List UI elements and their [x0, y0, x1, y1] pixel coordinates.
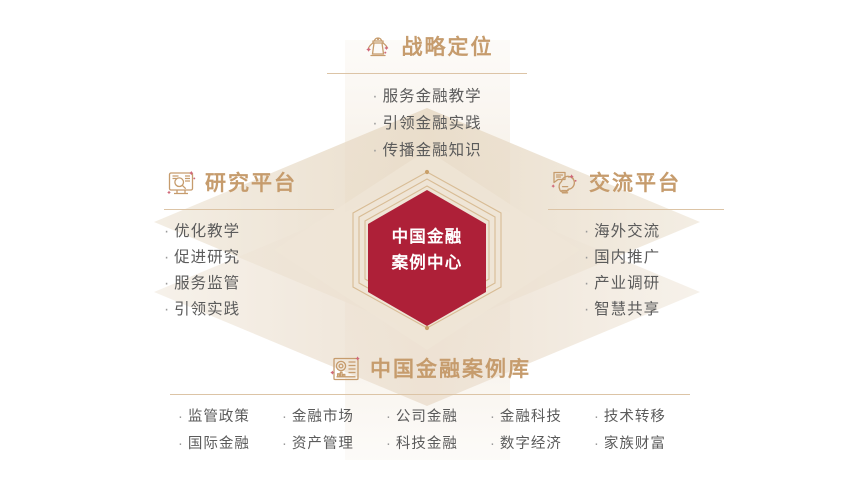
bullet-dot: · — [594, 409, 604, 425]
bullet-dot: · — [178, 436, 188, 452]
list-item-label: 服务监管 — [174, 275, 240, 292]
bullet-dot: · — [584, 301, 594, 318]
bullet-dot: · — [372, 88, 382, 105]
bullet-dot: · — [164, 301, 174, 318]
list-item-label: 促进研究 — [174, 249, 240, 266]
panel-strategy-title: 战略定位 — [402, 37, 494, 58]
list-item-label: 数字经济 — [500, 436, 562, 452]
list-item-label: 科技金融 — [396, 436, 458, 452]
list-item: ·服务监管 — [164, 271, 334, 297]
list-item-label: 金融市场 — [292, 409, 354, 425]
strategy-beacon-icon — [361, 30, 395, 64]
panel-strategy-items: ·服务金融教学 ·引领金融实践 ·传播金融知识 — [327, 83, 527, 164]
list-item-label: 海外交流 — [594, 223, 660, 240]
bullet-dot: · — [594, 436, 604, 452]
panel-exchange-divider — [548, 209, 724, 210]
exchange-speech-bubble-icon — [548, 166, 582, 200]
list-item: ·智慧共享 — [584, 297, 724, 323]
bullet-dot: · — [178, 409, 188, 425]
bullet-dot: · — [490, 409, 500, 425]
list-item-label: 优化教学 — [174, 223, 240, 240]
center-emblem: 中国金融 案例中心 — [337, 168, 517, 332]
list-item-label: 国际金融 — [188, 436, 250, 452]
panel-research-divider — [164, 209, 334, 210]
bullet-dot: · — [386, 436, 396, 452]
list-item-label: 传播金融知识 — [383, 142, 482, 159]
panel-case-library-header: 中国金融案例库 — [170, 352, 690, 386]
list-item-label: 监管政策 — [188, 409, 250, 425]
center-line-2: 案例中心 — [392, 255, 463, 272]
list-item: ·监管政策 — [170, 405, 274, 430]
bullet-dot: · — [282, 436, 292, 452]
bullet-dot: · — [386, 409, 396, 425]
list-item-label: 资产管理 — [292, 436, 354, 452]
list-item: ·金融市场 — [274, 405, 378, 430]
list-item: ·引领实践 — [164, 297, 334, 323]
list-item: ·服务金融教学 — [327, 83, 527, 110]
infographic-canvas: 中国金融 案例中心 — [0, 0, 854, 492]
panel-research: 研究平台 ·优化教学 ·促进研究 ·服务监管 ·引领实践 — [164, 166, 334, 323]
panel-exchange: 交流平台 ·海外交流 ·国内推广 ·产业调研 ·智慧共享 — [548, 166, 724, 323]
panel-research-header: 研究平台 — [164, 166, 334, 200]
list-item: ·海外交流 — [584, 219, 724, 245]
case-library-grid: ·监管政策 ·金融市场 ·公司金融 ·金融科技 ·技术转移 ·国际金融 ·资产管… — [170, 405, 690, 457]
list-item: ·资产管理 — [274, 432, 378, 457]
case-library-board-icon — [329, 352, 363, 386]
list-item-label: 金融科技 — [500, 409, 562, 425]
list-item-label: 技术转移 — [604, 409, 666, 425]
panel-case-library-divider — [170, 394, 690, 395]
center-line-1: 中国金融 — [392, 229, 463, 246]
panel-research-items: ·优化教学 ·促进研究 ·服务监管 ·引领实践 — [164, 219, 334, 323]
bullet-dot: · — [164, 275, 174, 292]
list-item: ·国际金融 — [170, 432, 274, 457]
list-item: ·家族财富 — [586, 432, 690, 457]
panel-strategy: 战略定位 ·服务金融教学 ·引领金融实践 ·传播金融知识 — [327, 30, 527, 164]
list-item-label: 智慧共享 — [594, 301, 660, 318]
bullet-dot: · — [584, 275, 594, 292]
list-item-label: 家族财富 — [604, 436, 666, 452]
bullet-dot: · — [282, 409, 292, 425]
panel-strategy-header: 战略定位 — [327, 30, 527, 64]
list-item-label: 国内推广 — [594, 249, 660, 266]
panel-research-title: 研究平台 — [205, 173, 297, 194]
panel-exchange-title: 交流平台 — [589, 173, 681, 194]
list-item: ·促进研究 — [164, 245, 334, 271]
list-item-label: 引领金融实践 — [383, 115, 482, 132]
list-item: ·产业调研 — [584, 271, 724, 297]
bullet-dot: · — [490, 436, 500, 452]
list-item-label: 产业调研 — [594, 275, 660, 292]
list-item-label: 引领实践 — [174, 301, 240, 318]
list-item: ·传播金融知识 — [327, 137, 527, 164]
research-monitor-search-icon — [164, 166, 198, 200]
bullet-dot: · — [372, 115, 382, 132]
bullet-dot: · — [164, 223, 174, 240]
panel-exchange-header: 交流平台 — [548, 166, 724, 200]
list-item: ·国内推广 — [584, 245, 724, 271]
bullet-dot: · — [372, 142, 382, 159]
list-item-label: 公司金融 — [396, 409, 458, 425]
bullet-dot: · — [584, 223, 594, 240]
panel-case-library: 中国金融案例库 ·监管政策 ·金融市场 ·公司金融 ·金融科技 ·技术转移 ·国… — [170, 352, 690, 457]
panel-exchange-items: ·海外交流 ·国内推广 ·产业调研 ·智慧共享 — [548, 219, 724, 323]
list-item-label: 服务金融教学 — [383, 88, 482, 105]
list-item: ·引领金融实践 — [327, 110, 527, 137]
panel-case-library-title: 中国金融案例库 — [370, 359, 531, 380]
list-item: ·技术转移 — [586, 405, 690, 430]
list-item: ·数字经济 — [482, 432, 586, 457]
list-item: ·金融科技 — [482, 405, 586, 430]
bullet-dot: · — [164, 249, 174, 266]
bullet-dot: · — [584, 249, 594, 266]
list-item: ·科技金融 — [378, 432, 482, 457]
list-item: ·优化教学 — [164, 219, 334, 245]
list-item: ·公司金融 — [378, 405, 482, 430]
panel-strategy-divider — [327, 73, 527, 74]
